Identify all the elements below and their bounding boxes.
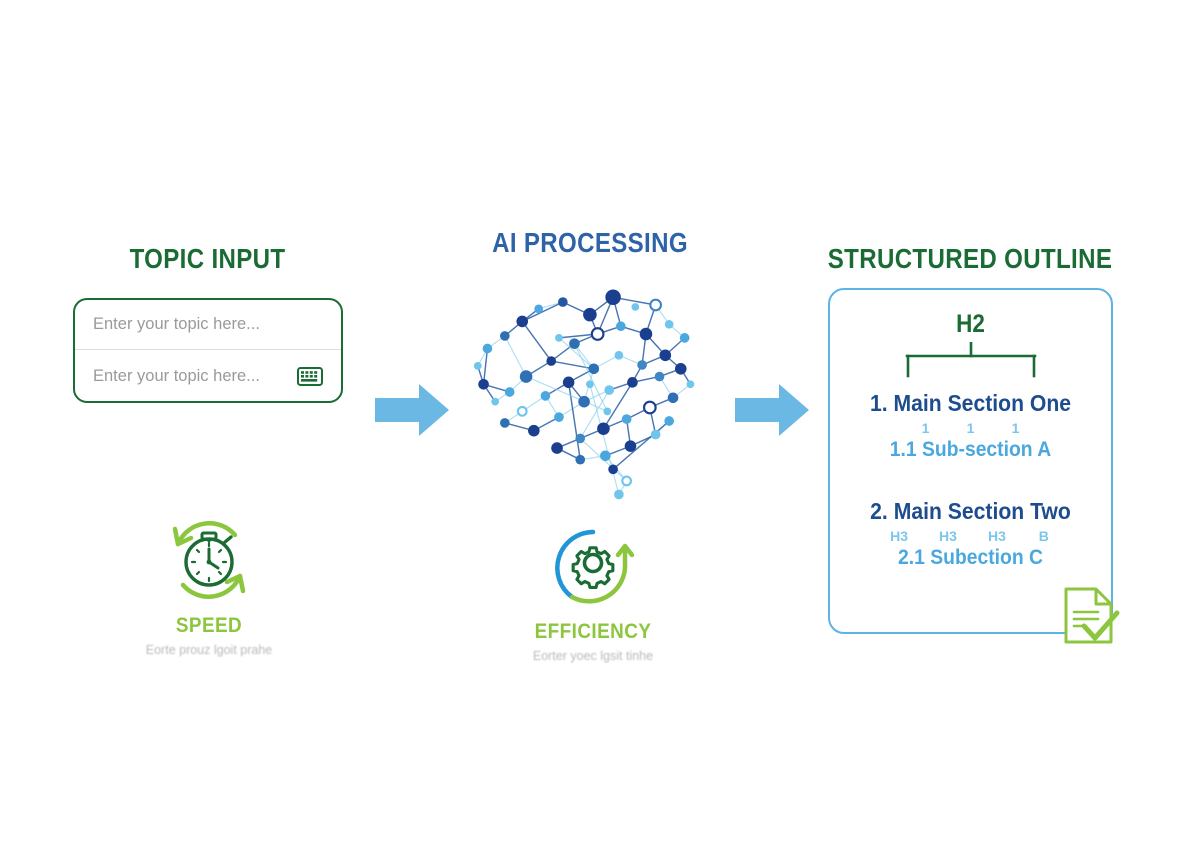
topic-input-field-1[interactable]: Enter your topic here...: [93, 315, 323, 334]
keyboard-icon[interactable]: [297, 367, 323, 386]
outline-tree-bracket: [896, 342, 1046, 378]
outline-block: 2. Main Section Two H3 H3 H3 B 2.1 Subec…: [830, 498, 1111, 570]
outline-main-heading: 1. Main Section One: [841, 390, 1100, 417]
outline-marker: 1: [919, 420, 933, 436]
feature-speed: SPEED Eorte prouz lgoit prahe: [134, 516, 284, 657]
outline-marker: H3: [890, 528, 908, 544]
topic-input-row-1[interactable]: Enter your topic here...: [75, 300, 341, 350]
brain-nodes: [474, 290, 694, 500]
outline-block: 1. Main Section One 1 1 1 1.1 Sub-sectio…: [830, 390, 1111, 462]
outline-marker: H3: [939, 528, 957, 544]
outline-marker: 1: [964, 420, 978, 436]
ai-processing-heading: AI PROCESSING: [444, 227, 736, 259]
outline-main-heading: 2. Main Section Two: [841, 498, 1100, 525]
outline-sub-heading: 1.1 Sub-section A: [841, 438, 1100, 462]
feature-caption: Eorte prouz lgoit prahe: [134, 643, 284, 657]
structured-outline-panel: H2 1. Main Section One 1 1 1 1.1 Sub-sec…: [828, 288, 1113, 634]
outline-marker: B: [1037, 528, 1051, 544]
outline-marker: H3: [988, 528, 1006, 544]
outline-marker: 1: [1009, 420, 1023, 436]
stopwatch-icon: [134, 516, 284, 608]
topic-input-row-2[interactable]: Enter your topic here...: [75, 351, 341, 401]
outline-root-label: H2: [844, 310, 1097, 339]
infographic-canvas: TOPIC INPUT AI PROCESSING STRUCTURED OUT…: [0, 0, 1184, 864]
brain-network-icon: [462, 276, 712, 508]
flow-arrow-1: [375, 382, 450, 438]
topic-input-heading: TOPIC INPUT: [29, 243, 386, 275]
outline-marker-row: 1 1 1: [830, 420, 1111, 436]
structured-outline-heading: STRUCTURED OUTLINE: [815, 243, 1125, 275]
feature-title: EFFICIENCY: [526, 620, 661, 644]
topic-input-card: Enter your topic here... Enter your topi…: [73, 298, 343, 403]
gear-refresh-icon: [518, 522, 668, 614]
feature-title: SPEED: [142, 614, 277, 638]
feature-caption: Eorter yoec lgsit tinhe: [518, 649, 668, 663]
feature-efficiency: EFFICIENCY Eorter yoec lgsit tinhe: [518, 522, 668, 663]
outline-marker-row: H3 H3 H3 B: [830, 528, 1111, 544]
outline-sub-heading: 2.1 Subection C: [841, 546, 1100, 570]
document-check-icon: [1062, 586, 1120, 648]
topic-input-field-2[interactable]: Enter your topic here...: [93, 367, 297, 386]
flow-arrow-2: [735, 382, 810, 438]
